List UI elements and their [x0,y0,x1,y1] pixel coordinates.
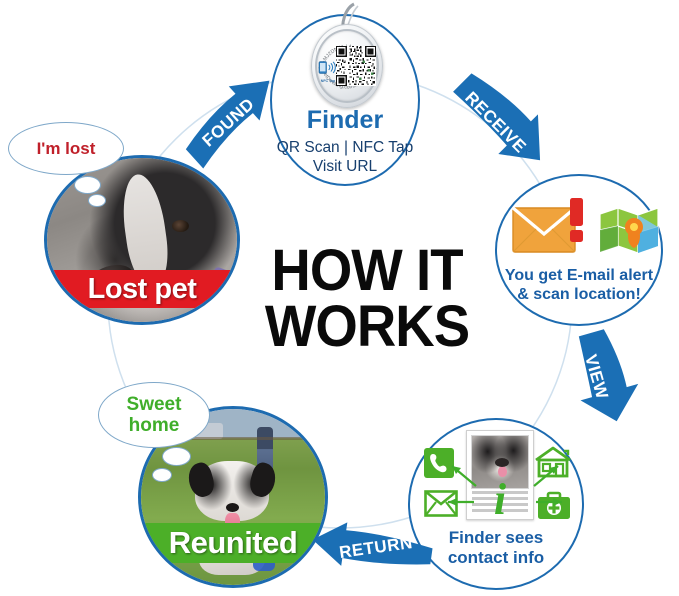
email-alert-line-1: You get E-mail alert [498,266,660,285]
reunited-dog-nose [226,503,239,512]
finder-sub-line-1: QR Scan | NFC Tap [272,139,418,158]
map-pin-icon [598,196,662,258]
email-alert-text-block: You get E-mail alert & scan location! [498,266,660,304]
finder-text-block: Finder QR Scan | NFC Tap Visit URL [272,108,418,177]
dog-eye [172,220,189,232]
bubble-sweet-home: Sweet home [98,382,210,448]
email-alert-line-2: & scan location! [498,285,660,304]
bubble-sweet-home-line-1: Sweet [127,394,182,415]
arrow-receive: RECEIVE [446,66,562,174]
arrow-view: VIEW [556,318,652,436]
bubble-dot-large-2 [162,447,191,466]
lost-pet-band: Lost pet [47,270,237,308]
bubble-im-lost-text: I'm lost [37,139,96,158]
qr-code-icon [336,46,376,86]
node-lost-pet[interactable]: Lost pet [44,155,240,325]
pet-tag[interactable]: QR-MJ2DN.I1 | Activation OTV-22-04 PetDw… [311,24,383,108]
envelope-alert-icon [512,196,592,258]
page-title: HOW IT WORKS [255,243,479,354]
infographic-canvas: HOW IT WORKS Lost pet I'm lost FOUND [0,0,679,596]
nfc-tap-label: NFC Tap [318,79,338,83]
title-line-2: WORKS [255,299,479,355]
finder-sub-line-2: Visit URL [272,158,418,177]
nfc-phone-icon: NFC Tap [318,61,338,83]
bubble-sweet-home-line-2: home [129,415,180,436]
reunited-band: Reunited [141,523,325,563]
bubble-dot-small [88,194,106,207]
bubble-dot-large [74,176,101,194]
title-line-1: HOW IT [255,243,479,299]
radiating-arrows-icon [440,452,570,528]
finder-title: Finder [272,108,418,133]
bubble-im-lost: I'm lost [8,122,124,175]
arrow-return: RETURN [308,524,436,572]
bubble-dot-small-2 [152,468,172,482]
